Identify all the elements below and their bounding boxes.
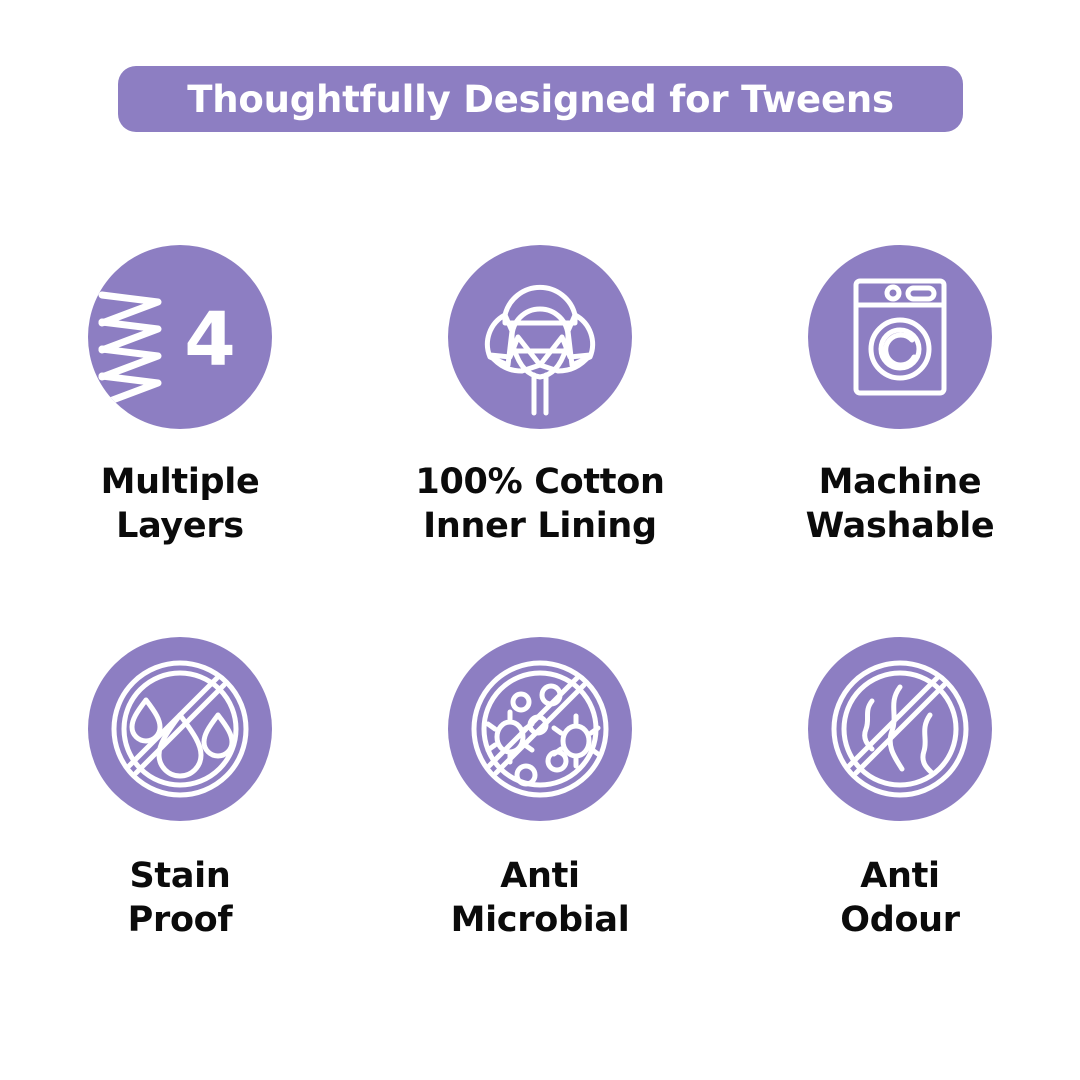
header-banner: Thoughtfully Designed for Tweens: [118, 66, 963, 132]
feature-label: Multiple Layers: [101, 461, 260, 549]
feature-grid: 4 Multiple Layers: [0, 230, 1080, 1014]
feature-label: Stain Proof: [128, 855, 233, 943]
layer-count-value: 4: [184, 297, 236, 383]
feature-stain-proof: Stain Proof: [0, 622, 360, 1014]
layers-stack-icon: 4: [88, 245, 272, 429]
feature-label: Anti Odour: [840, 855, 960, 943]
no-stain-droplet-icon: [88, 637, 272, 821]
feature-label: Anti Microbial: [451, 855, 630, 943]
feature-anti-odour: Anti Odour: [720, 622, 1080, 1014]
feature-highlight-page: Thoughtfully Designed for Tweens 4 Multi…: [0, 0, 1080, 1080]
feature-cotton-lining: 100% Cotton Inner Lining: [360, 230, 720, 622]
no-microbe-icon: [448, 637, 632, 821]
washing-machine-icon: [808, 245, 992, 429]
feature-label: 100% Cotton Inner Lining: [415, 461, 664, 549]
feature-machine-washable: Machine Washable: [720, 230, 1080, 622]
feature-anti-microbial: Anti Microbial: [360, 622, 720, 1014]
feature-multiple-layers: 4 Multiple Layers: [0, 230, 360, 622]
cotton-boll-icon: [448, 245, 632, 429]
no-odour-icon: [808, 637, 992, 821]
feature-label: Machine Washable: [806, 461, 995, 549]
page-title: Thoughtfully Designed for Tweens: [187, 81, 894, 118]
